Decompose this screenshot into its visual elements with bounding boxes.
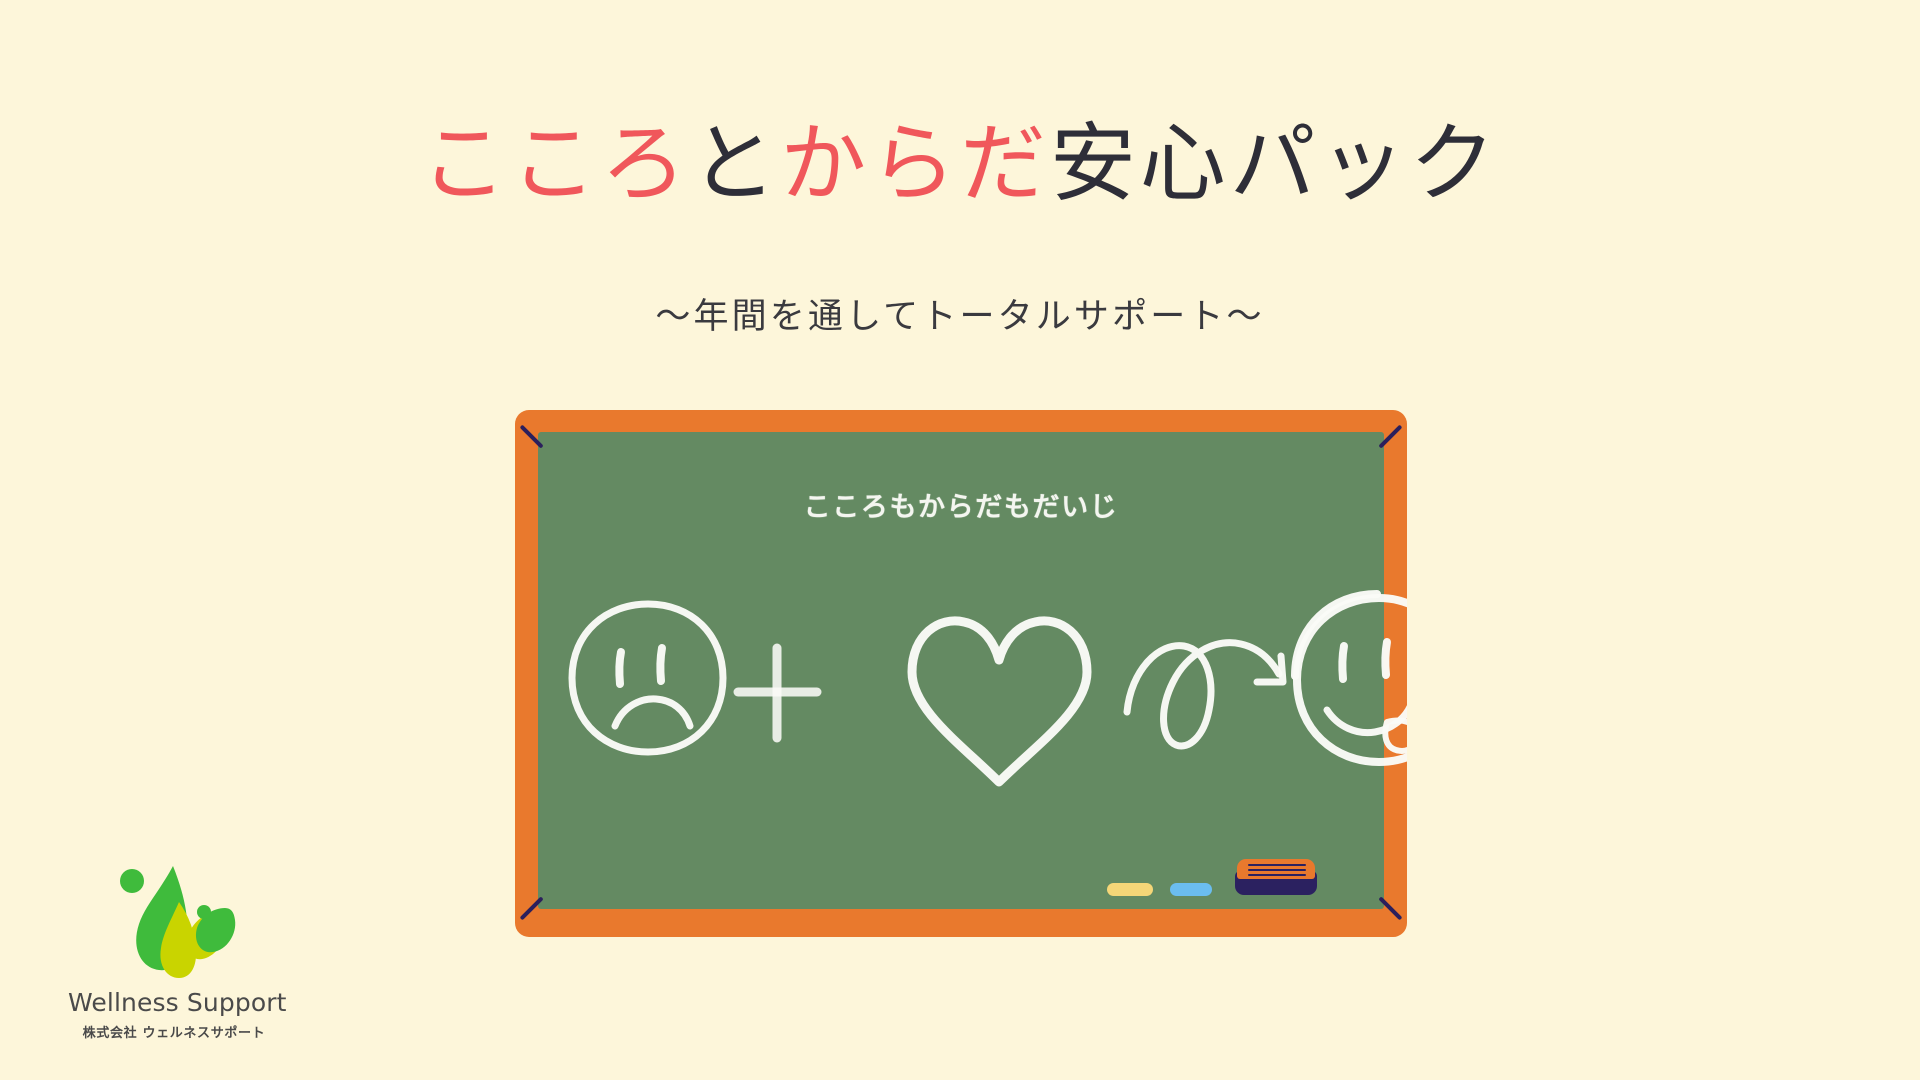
plus-sign-icon	[738, 648, 817, 738]
title-segment-karada: からだ	[780, 114, 1050, 214]
eraser-stripe	[1248, 869, 1306, 871]
title-block: こころとからだ安心パック	[0, 118, 1920, 211]
title-segment-to: と	[690, 114, 780, 214]
blackboard-heading: こころもからだもだいじ	[515, 485, 1407, 524]
page-subtitle: 〜年間を通してトータルサポート〜	[0, 288, 1920, 339]
blackboard-drawing	[515, 560, 1407, 790]
logo-name: Wellness Support	[68, 988, 280, 1017]
happy-face-icon	[1295, 594, 1407, 762]
title-segment-kokoro: こころ	[421, 114, 691, 214]
blackboard-eraser	[1235, 859, 1317, 895]
slide-canvas: こころとからだ安心パック 〜年間を通してトータルサポート〜 こころもからだもだい…	[0, 0, 1920, 1080]
curved-arrow-icon	[1127, 643, 1283, 746]
eraser-stripe	[1248, 874, 1306, 876]
logo-company-name: 株式会社 ウェルネスサポート	[68, 1022, 280, 1041]
heart-icon	[912, 621, 1087, 782]
chalk-yellow	[1107, 883, 1153, 896]
chalk-blue	[1170, 883, 1212, 896]
logo-block: Wellness Support 株式会社 ウェルネスサポート	[68, 862, 280, 1041]
page-title: こころとからだ安心パック	[0, 118, 1920, 211]
sad-face-icon	[572, 604, 723, 752]
blackboard: こころもからだもだいじ	[515, 410, 1407, 937]
eraser-top	[1237, 859, 1315, 879]
title-segment-anshin-pack: 安心パック	[1050, 114, 1499, 214]
eraser-stripe	[1248, 864, 1306, 866]
wellness-support-logo-icon	[101, 862, 247, 984]
